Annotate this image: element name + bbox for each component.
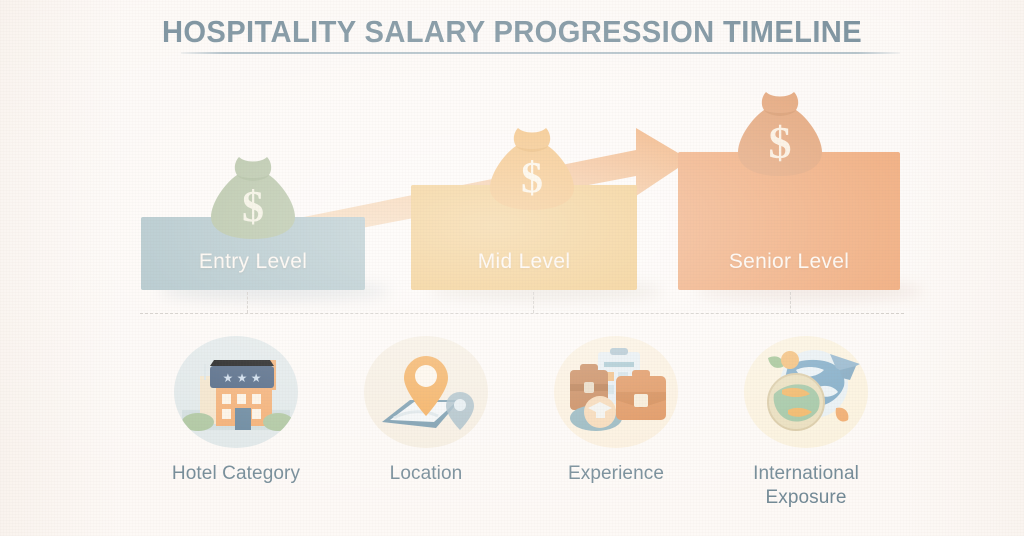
factor-label-location: Location bbox=[331, 462, 521, 486]
factor-label-international-exposure: International Exposure bbox=[711, 462, 901, 511]
timeline-baseline bbox=[140, 313, 904, 314]
factor-label-experience: Experience bbox=[521, 462, 711, 486]
briefcase-icon bbox=[554, 336, 678, 448]
factor-location[interactable]: Location bbox=[331, 336, 521, 486]
salary-block-label-senior: Senior Level bbox=[729, 250, 849, 290]
map-pin-icon bbox=[364, 336, 488, 448]
factor-label-hotel-category: Hotel Category bbox=[141, 462, 331, 486]
salary-block-label-mid: Mid Level bbox=[478, 250, 571, 290]
infographic-canvas: HOSPITALITY SALARY PROGRESSION TIMELINE … bbox=[0, 0, 1024, 536]
svg-text:$: $ bbox=[769, 117, 792, 168]
hotel-building-icon: ★ ★ ★ bbox=[174, 336, 298, 448]
money-bag-icon-mid: $ bbox=[480, 126, 584, 212]
factor-international-exposure[interactable]: International Exposure bbox=[711, 336, 901, 511]
globe-plane-icon bbox=[744, 336, 868, 448]
timeline-tick-entry bbox=[247, 292, 248, 313]
money-bag-icon-senior: $ bbox=[728, 90, 832, 178]
timeline-tick-mid bbox=[533, 292, 534, 313]
factor-hotel-category[interactable]: ★ ★ ★ Hotel Category bbox=[141, 336, 331, 486]
svg-text:$: $ bbox=[521, 153, 543, 202]
timeline-tick-senior bbox=[790, 292, 791, 313]
svg-text:★ ★ ★: ★ ★ ★ bbox=[223, 371, 262, 385]
salary-block-label-entry: Entry Level bbox=[199, 250, 307, 290]
svg-text:$: $ bbox=[242, 182, 264, 231]
money-bag-icon-entry: $ bbox=[201, 155, 305, 241]
factor-experience[interactable]: Experience bbox=[521, 336, 711, 486]
